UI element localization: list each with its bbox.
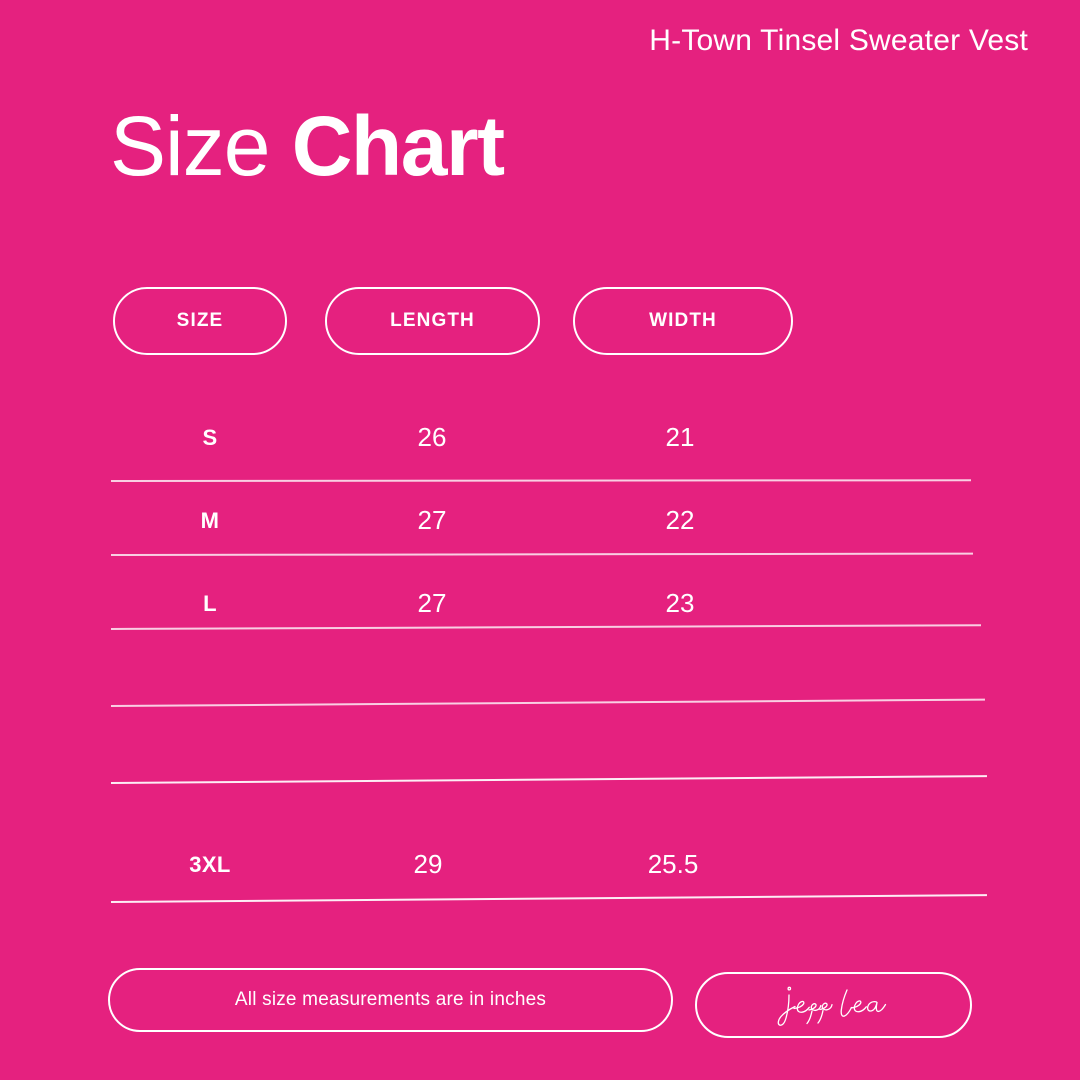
page-title-light: Size: [110, 99, 292, 193]
measurement-note-text: All size measurements are in inches: [235, 989, 546, 1011]
cell-size: 3XL: [150, 823, 270, 906]
cell-width: [615, 728, 745, 811]
cell-width: 21: [615, 396, 745, 479]
table-row: S 26 21: [0, 396, 1080, 479]
cell-length: 27: [372, 479, 492, 562]
column-header-length: LENGTH: [325, 287, 540, 355]
cell-length: 26: [372, 396, 492, 479]
script-signature-logo-icon: [759, 977, 909, 1033]
brand-logo-pill: [695, 972, 972, 1038]
table-row: [0, 645, 1080, 728]
cell-size: [150, 728, 270, 811]
column-header-width: WIDTH: [573, 287, 793, 355]
cell-size: [150, 645, 270, 728]
cell-width: 22: [615, 479, 745, 562]
cell-length: [372, 645, 492, 728]
page-title: Size Chart: [110, 104, 504, 188]
table-row: M 27 22: [0, 479, 1080, 562]
cell-size: S: [150, 396, 270, 479]
cell-width: 23: [615, 562, 745, 645]
cell-size: M: [150, 479, 270, 562]
page-title-bold: Chart: [292, 99, 504, 193]
cell-length: [372, 728, 492, 811]
size-table: S 26 21 M 27 22 L 27 23: [0, 396, 1080, 906]
table-row: 3XL 29 25.5: [0, 811, 1080, 906]
product-title: H-Town Tinsel Sweater Vest: [649, 24, 1028, 58]
cell-size: L: [150, 562, 270, 645]
cell-length: 27: [372, 562, 492, 645]
size-chart-canvas: H-Town Tinsel Sweater Vest Size Chart SI…: [0, 0, 1080, 1080]
cell-width: 25.5: [608, 823, 738, 906]
cell-length: 29: [368, 823, 488, 906]
table-row: L 27 23: [0, 562, 1080, 645]
measurement-note-pill: All size measurements are in inches: [108, 968, 673, 1032]
cell-width: [615, 645, 745, 728]
table-row: [0, 728, 1080, 811]
row-divider: [111, 553, 973, 556]
column-header-size: SIZE: [113, 287, 287, 355]
